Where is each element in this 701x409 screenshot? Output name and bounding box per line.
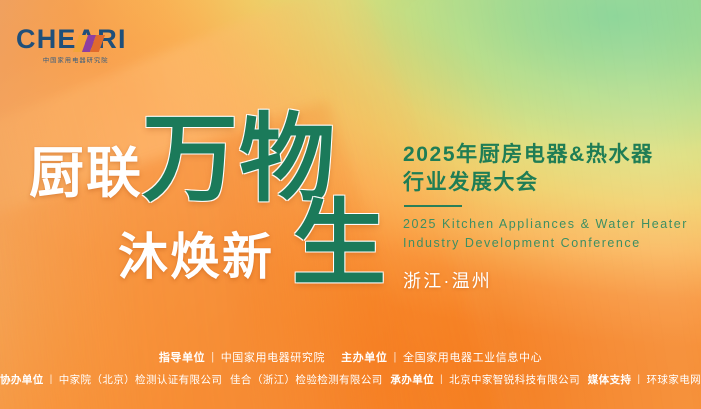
credit-separator: | [50,373,53,385]
credit-value: 环球家电网 [647,372,701,387]
credit-label: 指导单位 [159,349,205,365]
event-info-block: 2025年厨房电器&热水器 行业发展大会 2025 Kitchen Applia… [403,141,693,293]
cheari-logo: CHEARI 中国家用电器研究院 [16,26,166,68]
credit-value: 全国家用电器工业信息中心 [403,349,542,365]
event-title-en-line1: 2025 Kitchen Appliances & Water Heater [403,215,693,234]
credits-row-primary: 指导单位 | 中国家用电器研究院 主办单位 | 全国家用电器工业信息中心 [0,348,701,366]
event-location: 浙江·温州 [403,267,693,293]
credit-group: 指导单位 | 中国家用电器研究院 [159,349,325,365]
credit-separator: | [211,351,214,363]
credit-value: 中国家用电器研究院 [221,349,325,365]
credit-label: 承办单位 [390,372,434,387]
title-divider-rule [404,205,462,207]
credit-value: 中家院（北京）检测认证有限公司 [59,372,223,387]
headline-part-muhuanxin: 沐焕新 [118,232,274,282]
headline-part-sheng: 生 [292,198,386,292]
headline-part-chulian: 厨联 [29,146,143,201]
headline-group: 厨联 万物 沐焕新 生 [0,104,400,304]
credit-separator: | [394,351,397,363]
logo-subtitle: 中国家用电器研究院 [16,55,160,65]
credit-separator: | [440,373,443,385]
event-title-cn-line1: 2025年厨房电器&热水器 [403,141,693,169]
credit-label: 媒体支持 [588,372,632,387]
credit-value: 北京中家智锐科技有限公司 [449,372,580,387]
conference-poster: CHEARI 中国家用电器研究院 厨联 万物 沐焕新 生 2025年厨房电器&热… [0,0,701,409]
credit-group: 媒体支持 | 环球家电网 [588,372,701,387]
credit-label: 协办单位 [0,372,44,387]
credits-row-secondary: 协办单位 | 中家院（北京）检测认证有限公司 佳合（浙江）检验检测有限公司 承办… [0,370,701,388]
credit-group: 主办单位 | 全国家用电器工业信息中心 [341,349,542,365]
credit-label: 主办单位 [341,349,387,365]
credit-group: 承办单位 | 北京中家智锐科技有限公司 [390,372,580,387]
credit-value: 佳合（浙江）检验检测有限公司 [230,372,383,387]
credit-group: 佳合（浙江）检验检测有限公司 [230,372,383,387]
event-title-cn-line2: 行业发展大会 [403,169,693,197]
credits-section: 指导单位 | 中国家用电器研究院 主办单位 | 全国家用电器工业信息中心 协办单… [0,339,701,409]
credit-separator: | [637,373,640,385]
event-title-en-line2: Industry Development Conference [403,234,693,253]
credit-group: 协办单位 | 中家院（北京）检测认证有限公司 [0,372,222,387]
